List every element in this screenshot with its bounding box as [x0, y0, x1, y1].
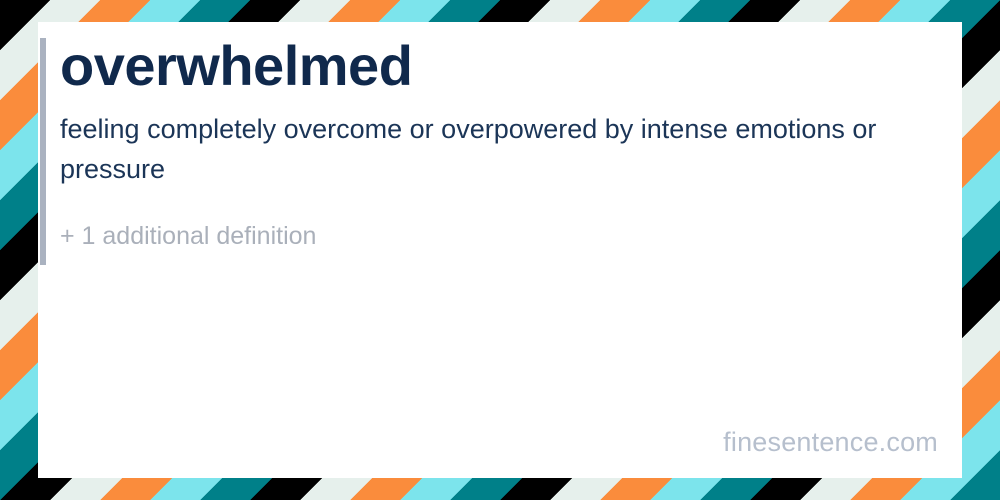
left-accent-bar [40, 38, 46, 265]
definition-card: overwhelmed feeling completely overcome … [38, 22, 962, 478]
word-card-screenshot: overwhelmed feeling completely overcome … [0, 0, 1000, 500]
additional-definitions-link[interactable]: + 1 additional definition [60, 189, 942, 253]
primary-definition-text: feeling completely overcome or overpower… [60, 96, 940, 188]
card-content: overwhelmed feeling completely overcome … [60, 22, 942, 252]
site-credit-label: finesentence.com [723, 427, 938, 458]
word-headline: overwhelmed [60, 22, 942, 96]
